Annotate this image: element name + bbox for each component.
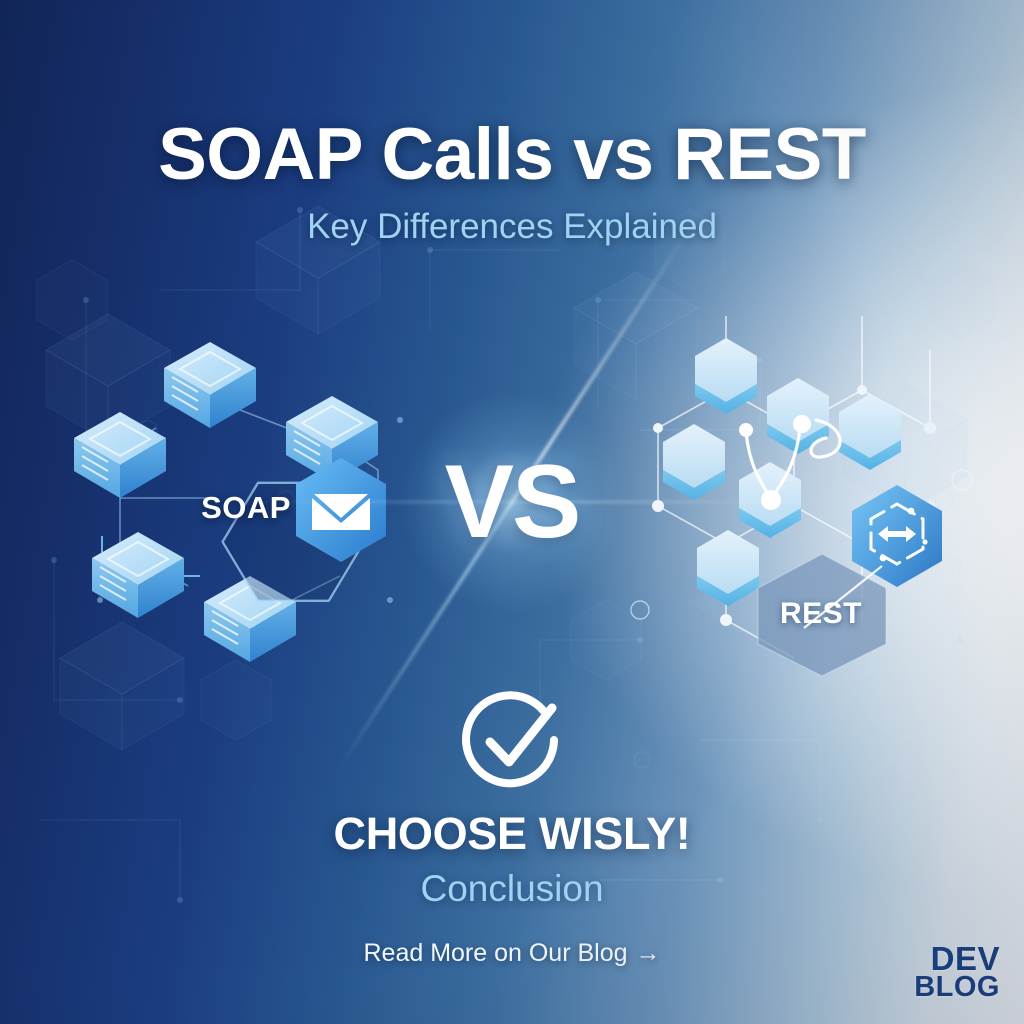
logo-line-1: DEV xyxy=(914,943,1000,975)
header: SOAP Calls vs REST Key Differences Expla… xyxy=(0,118,1024,244)
versus-label: VS xyxy=(396,418,628,586)
rest-connector-line xyxy=(790,560,890,640)
conclusion-subheading: Conclusion xyxy=(0,870,1024,907)
circle-check-icon xyxy=(460,688,564,792)
cta-read-more[interactable]: Read More on Our Blog→ xyxy=(0,941,1024,966)
conclusion-heading: CHOOSE WISLY! xyxy=(0,811,1024,856)
page-subtitle: Key Differences Explained xyxy=(0,209,1024,244)
versus-badge: VS xyxy=(396,418,628,586)
poster-canvas: SOAP Calls vs REST Key Differences Expla… xyxy=(0,0,1024,1024)
conclusion-block: CHOOSE WISLY! Conclusion Read More on Ou… xyxy=(0,688,1024,966)
soap-node-label: SOAP xyxy=(168,462,324,554)
page-title: SOAP Calls vs REST xyxy=(0,118,1024,191)
logo-line-2: BLOG xyxy=(914,974,1000,1002)
cta-label: Read More on Our Blog xyxy=(363,939,627,967)
arrow-right-icon: → xyxy=(636,941,661,966)
dev-blog-logo[interactable]: DEV BLOG xyxy=(914,943,1000,1003)
